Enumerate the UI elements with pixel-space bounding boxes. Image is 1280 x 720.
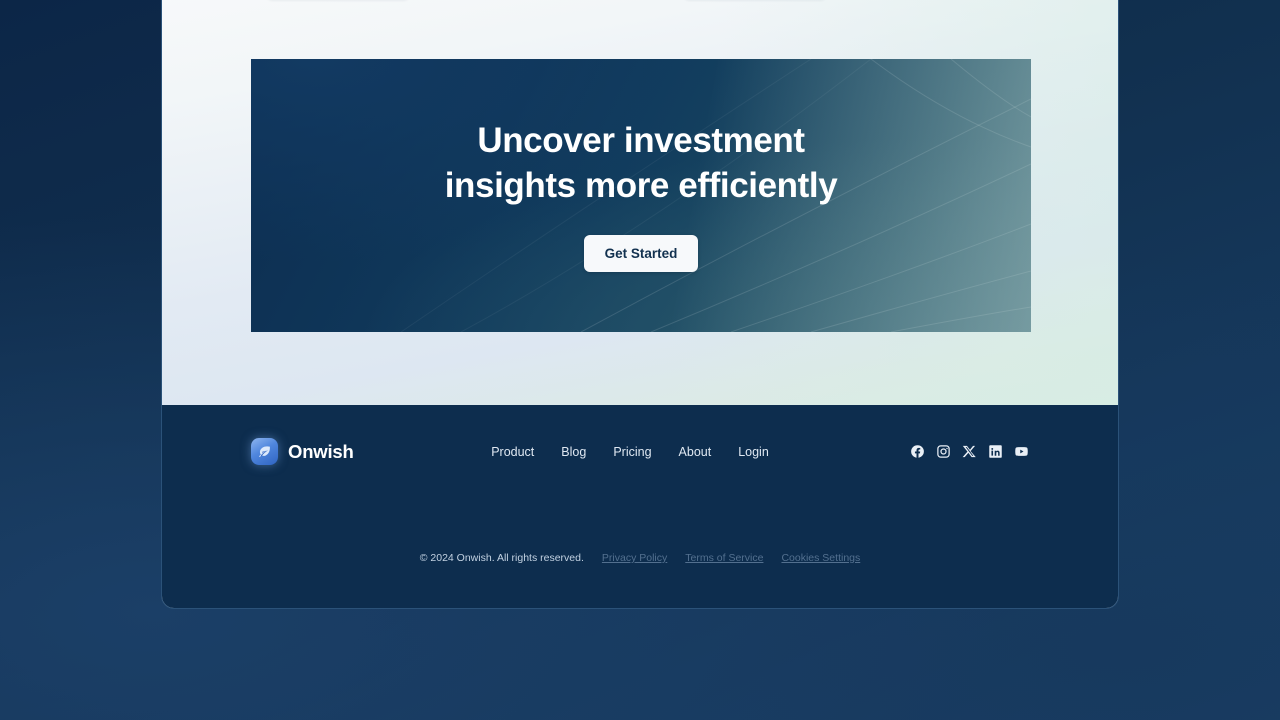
footer-link-product[interactable]: Product — [491, 445, 534, 459]
onwish-logo-icon — [251, 438, 278, 465]
cta-banner: Uncover investmentinsights more efficien… — [251, 59, 1031, 332]
get-started-button[interactable]: Get Started — [584, 235, 699, 272]
copyright-text: © 2024 Onwish. All rights reserved. — [420, 552, 584, 564]
facebook-icon[interactable] — [910, 444, 925, 459]
scrolled-off-cards-region — [162, 0, 1118, 4]
cta-title-line-1: Uncover investment — [477, 121, 804, 160]
footer-link-about[interactable]: About — [679, 445, 712, 459]
terms-of-service-link[interactable]: Terms of Service — [685, 552, 763, 564]
footer-link-blog[interactable]: Blog — [561, 445, 586, 459]
instagram-icon[interactable] — [936, 444, 951, 459]
footer-brand[interactable]: Onwish — [251, 438, 511, 465]
page-content-surface: Uncover investmentinsights more efficien… — [162, 0, 1118, 405]
cta-title: Uncover investmentinsights more efficien… — [445, 119, 838, 207]
footer-legal-row: © 2024 Onwish. All rights reserved. Priv… — [162, 552, 1118, 564]
cookies-settings-link[interactable]: Cookies Settings — [781, 552, 860, 564]
footer-link-login[interactable]: Login — [738, 445, 769, 459]
youtube-icon[interactable] — [1014, 444, 1029, 459]
linkedin-icon[interactable] — [988, 444, 1003, 459]
x-twitter-icon[interactable] — [962, 444, 977, 459]
footer-link-pricing[interactable]: Pricing — [613, 445, 651, 459]
cta-title-line-2: insights more efficiently — [445, 166, 838, 205]
brand-name: Onwish — [288, 441, 354, 463]
privacy-policy-link[interactable]: Privacy Policy — [602, 552, 667, 564]
browser-window: Uncover investmentinsights more efficien… — [161, 0, 1119, 609]
footer-nav: Product Blog Pricing About Login — [491, 445, 769, 459]
footer-top-row: Onwish Product Blog Pricing About Login — [162, 438, 1118, 465]
site-footer: Onwish Product Blog Pricing About Login — [162, 405, 1118, 609]
footer-social-links — [769, 444, 1029, 459]
